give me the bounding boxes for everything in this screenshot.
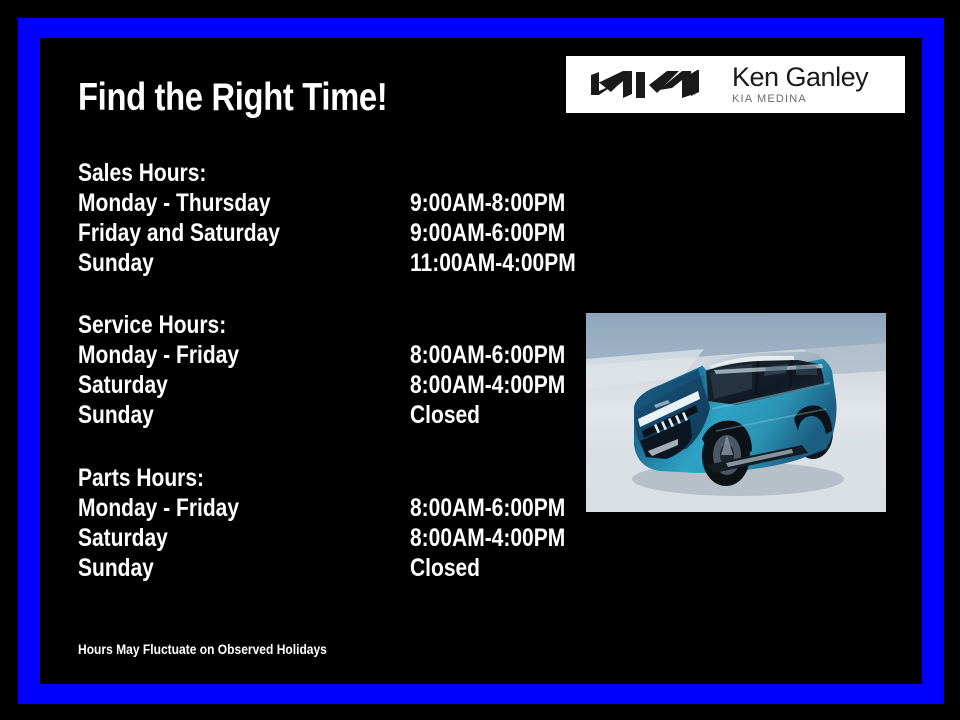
dealer-name: Ken Ganley	[732, 64, 868, 91]
suv-illustration	[586, 313, 886, 512]
service-hours-section: Service Hours: Monday - Friday 8:00AM-6:…	[78, 310, 598, 430]
day-label: Sunday	[78, 400, 154, 430]
day-label: Sunday	[78, 553, 154, 583]
dealer-logo-text: Ken Ganley KIA MEDINA	[732, 64, 868, 105]
table-row: Sunday Closed	[78, 400, 598, 430]
day-label: Monday - Thursday	[78, 188, 271, 218]
disclaimer-text: Hours May Fluctuate on Observed Holidays	[78, 641, 327, 657]
section-heading: Service Hours:	[78, 310, 515, 340]
day-label: Saturday	[78, 370, 168, 400]
table-row: Sunday 11:00AM-4:00PM	[78, 248, 598, 278]
time-value: 11:00AM-4:00PM	[410, 248, 576, 278]
time-value: 8:00AM-4:00PM	[410, 370, 565, 400]
section-heading: Parts Hours:	[78, 463, 515, 493]
time-value: 8:00AM-4:00PM	[410, 523, 565, 553]
time-value: 8:00AM-6:00PM	[410, 493, 565, 523]
table-row: Monday - Friday 8:00AM-6:00PM	[78, 493, 598, 523]
day-label: Friday and Saturday	[78, 218, 280, 248]
table-row: Sunday Closed	[78, 553, 598, 583]
day-label: Monday - Friday	[78, 493, 239, 523]
dealer-sublabel: KIA MEDINA	[732, 94, 868, 105]
dealer-logo: Ken Ganley KIA MEDINA	[566, 56, 905, 113]
time-value: 8:00AM-6:00PM	[410, 340, 565, 370]
parts-hours-section: Parts Hours: Monday - Friday 8:00AM-6:00…	[78, 463, 598, 583]
kia-logo-icon	[584, 70, 706, 100]
slide-canvas: Find the Right Time! Sales Hours: Monday…	[0, 0, 960, 720]
section-heading: Sales Hours:	[78, 158, 515, 188]
time-value: 9:00AM-8:00PM	[410, 188, 565, 218]
table-row: Monday - Thursday 9:00AM-8:00PM	[78, 188, 598, 218]
table-row: Saturday 8:00AM-4:00PM	[78, 523, 598, 553]
time-value: Closed	[410, 400, 480, 430]
day-label: Monday - Friday	[78, 340, 239, 370]
table-row: Saturday 8:00AM-4:00PM	[78, 370, 598, 400]
time-value: 9:00AM-6:00PM	[410, 218, 565, 248]
day-label: Sunday	[78, 248, 154, 278]
table-row: Friday and Saturday 9:00AM-6:00PM	[78, 218, 598, 248]
kia-ev9-suv-photo	[586, 313, 886, 512]
table-row: Monday - Friday 8:00AM-6:00PM	[78, 340, 598, 370]
day-label: Saturday	[78, 523, 168, 553]
sales-hours-section: Sales Hours: Monday - Thursday 9:00AM-8:…	[78, 158, 598, 278]
time-value: Closed	[410, 553, 480, 583]
page-title: Find the Right Time!	[78, 78, 387, 119]
